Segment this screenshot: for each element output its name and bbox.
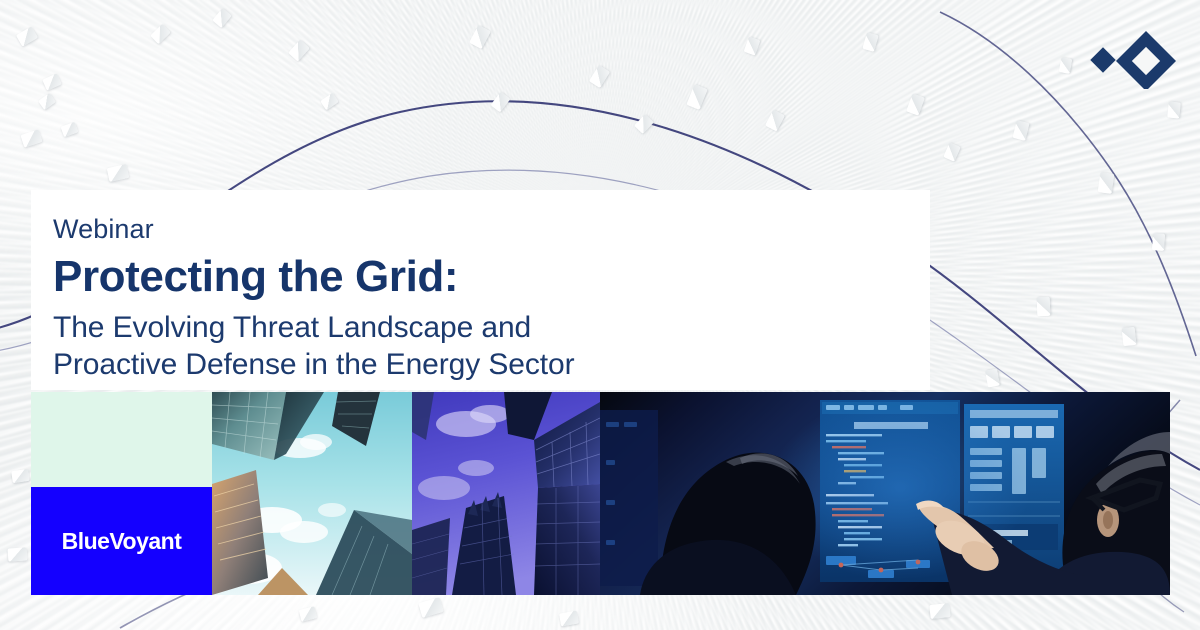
media-band: BlueVoyant [31,392,1170,595]
fiber-clip [929,603,950,619]
wordmark-plate: BlueVoyant [31,487,212,595]
photo-towers-blue [412,392,600,595]
promo-canvas: Webinar Protecting the Grid: The Evolvin… [0,0,1200,630]
mint-swatch [31,392,212,487]
fiber-clip [1098,172,1115,194]
kicker-label: Webinar [53,216,930,243]
page-title: Protecting the Grid: [53,254,930,300]
fiber-clip [1037,297,1051,316]
bluevoyant-diamond-logo [1088,27,1180,89]
subtitle-line-2: Proactive Defense in the Energy Sector [53,346,930,383]
fiber-clip [1167,101,1181,118]
photo-towers-teal [212,392,412,595]
photo-soc-analysts [600,392,1170,595]
bluevoyant-wordmark: BlueVoyant [62,528,182,555]
fiber-clip [1122,327,1137,346]
subtitle-line-1: The Evolving Threat Landscape and [53,309,930,346]
fiber-clip [11,469,30,483]
brand-block: BlueVoyant [31,392,212,595]
headline-card: Webinar Protecting the Grid: The Evolvin… [31,190,930,390]
fiber-clip [1152,233,1165,251]
fiber-clip [8,547,28,561]
